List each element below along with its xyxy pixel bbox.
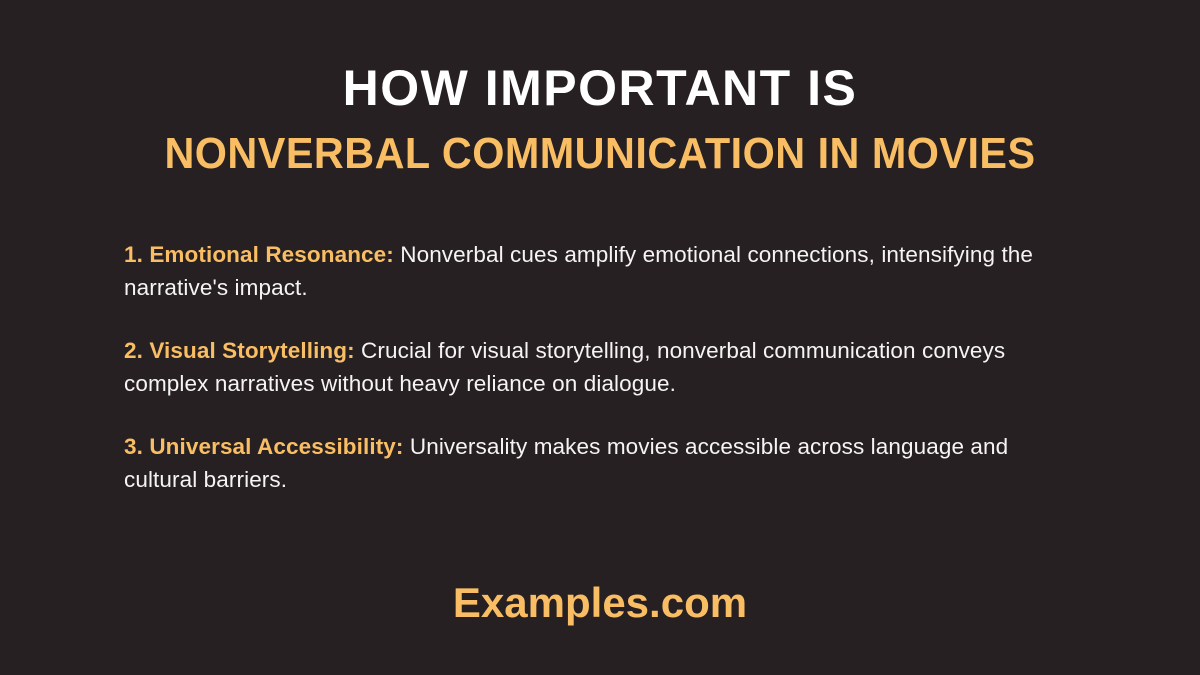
list-item: 2. Visual Storytelling: Crucial for visu… [124, 334, 1086, 400]
brand-watermark: Examples.com [0, 580, 1200, 626]
list-item-lead: 1. Emotional Resonance: [124, 242, 394, 267]
list-item-lead: 3. Universal Accessibility: [124, 434, 404, 459]
list-item: 3. Universal Accessibility: Universality… [124, 430, 1086, 496]
infographic-slide: HOW IMPORTANT IS NONVERBAL COMMUNICATION… [0, 0, 1200, 675]
points-list: 1. Emotional Resonance: Nonverbal cues a… [124, 238, 1086, 496]
page-title-line-1: HOW IMPORTANT IS [0, 60, 1200, 116]
list-item: 1. Emotional Resonance: Nonverbal cues a… [124, 238, 1086, 304]
heading-block: HOW IMPORTANT IS NONVERBAL COMMUNICATION… [0, 60, 1200, 178]
list-item-lead: 2. Visual Storytelling: [124, 338, 355, 363]
page-title-line-2: NONVERBAL COMMUNICATION IN MOVIES [36, 130, 1164, 178]
